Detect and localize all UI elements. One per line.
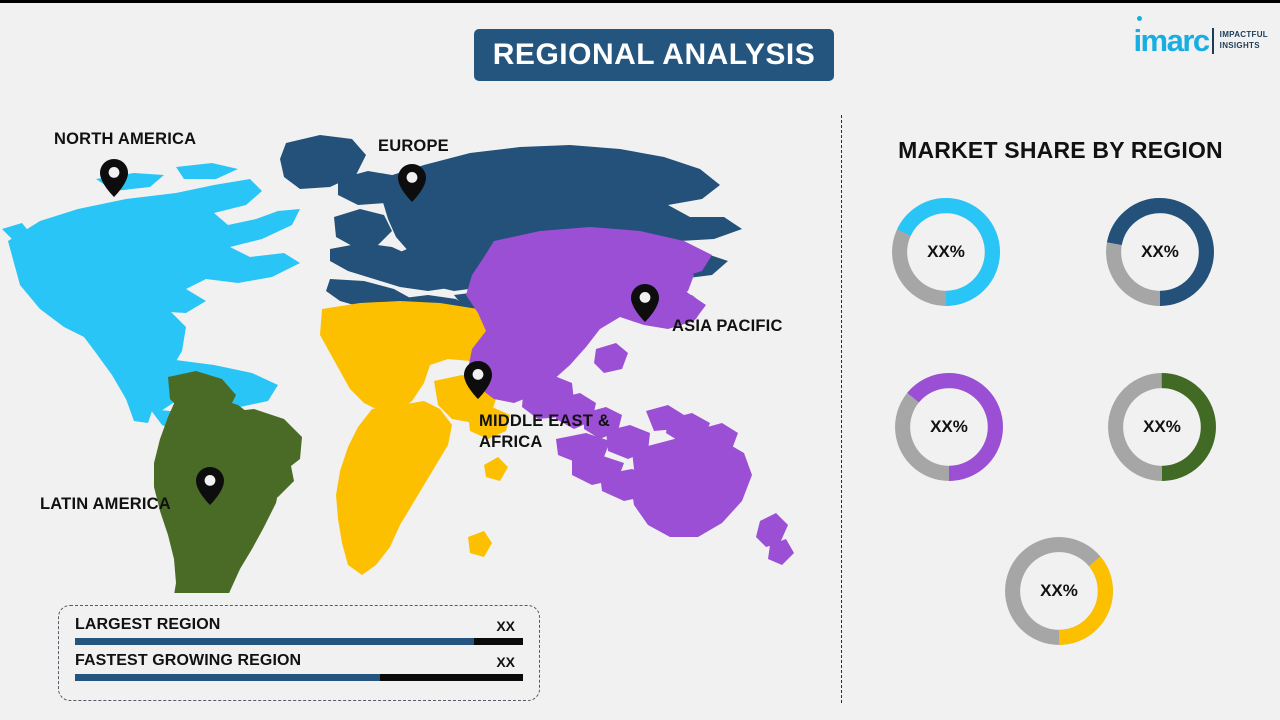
legend-label-fastest-growing-region: FASTEST GROWING REGION bbox=[75, 652, 301, 670]
market-share-title: MARKET SHARE BY REGION bbox=[841, 137, 1280, 164]
donut-chart-latin-america[interactable]: XX% bbox=[1104, 369, 1220, 485]
map-pin-europe-icon[interactable] bbox=[398, 164, 426, 202]
map-pin-north-america-icon[interactable] bbox=[100, 159, 128, 197]
logo-tagline-line2: INSIGHTS bbox=[1220, 41, 1260, 50]
donut-value-latin-america: XX% bbox=[1104, 369, 1220, 485]
imarc-logo: imarc IMPACTFUL INSIGHTS bbox=[1133, 25, 1268, 56]
map-label-middle-east-africa: MIDDLE EAST & AFRICA bbox=[479, 411, 629, 452]
map-label-latin-america: LATIN AMERICA bbox=[40, 494, 171, 515]
donut-chart-europe[interactable]: XX% bbox=[1102, 194, 1218, 310]
region-ranking-legend: LARGEST REGION XX FASTEST GROWING REGION… bbox=[58, 605, 540, 701]
page-title: REGIONAL ANALYSIS bbox=[493, 38, 815, 72]
legend-bar-fill-largest-region bbox=[75, 638, 474, 645]
map-pin-middle-east-africa-icon[interactable] bbox=[464, 361, 492, 399]
legend-row-largest-region: LARGEST REGION XX bbox=[75, 616, 523, 645]
map-pin-asia-pacific-icon[interactable] bbox=[631, 284, 659, 322]
map-pin-latin-america-icon[interactable] bbox=[196, 467, 224, 505]
map-label-asia-pacific: ASIA PACIFIC bbox=[672, 316, 783, 337]
map-region-latin-america[interactable] bbox=[154, 371, 302, 593]
logo-wordmark: imarc bbox=[1133, 25, 1208, 56]
regional-analysis-infographic: REGIONAL ANALYSIS imarc IMPACTFUL INSIGH… bbox=[0, 0, 1280, 720]
donut-chart-middle-east-africa[interactable]: XX% bbox=[1001, 533, 1117, 649]
legend-bar-fill-fastest-growing-region bbox=[75, 674, 380, 681]
legend-value-largest-region: XX bbox=[496, 618, 523, 634]
legend-value-fastest-growing-region: XX bbox=[496, 654, 523, 670]
logo-dot-icon bbox=[1137, 16, 1142, 21]
page-title-banner: REGIONAL ANALYSIS bbox=[474, 29, 834, 81]
donut-value-asia-pacific: XX% bbox=[891, 369, 1007, 485]
logo-tagline-line1: IMPACTFUL bbox=[1220, 30, 1268, 39]
donut-value-north-america: XX% bbox=[888, 194, 1004, 310]
donut-value-middle-east-africa: XX% bbox=[1001, 533, 1117, 649]
donut-chart-asia-pacific[interactable]: XX% bbox=[891, 369, 1007, 485]
logo-tagline: IMPACTFUL INSIGHTS bbox=[1220, 30, 1268, 52]
donut-value-europe: XX% bbox=[1102, 194, 1218, 310]
donut-chart-north-america[interactable]: XX% bbox=[888, 194, 1004, 310]
legend-row-fastest-growing-region: FASTEST GROWING REGION XX bbox=[75, 652, 523, 681]
panel-divider bbox=[841, 115, 842, 703]
map-region-asia-pacific[interactable] bbox=[466, 227, 794, 565]
map-label-europe: EUROPE bbox=[378, 136, 449, 157]
logo-divider bbox=[1212, 28, 1214, 54]
legend-label-largest-region: LARGEST REGION bbox=[75, 616, 220, 634]
map-label-north-america: NORTH AMERICA bbox=[54, 129, 196, 150]
legend-bar-track-fastest-growing-region bbox=[75, 674, 523, 681]
legend-bar-track-largest-region bbox=[75, 638, 523, 645]
